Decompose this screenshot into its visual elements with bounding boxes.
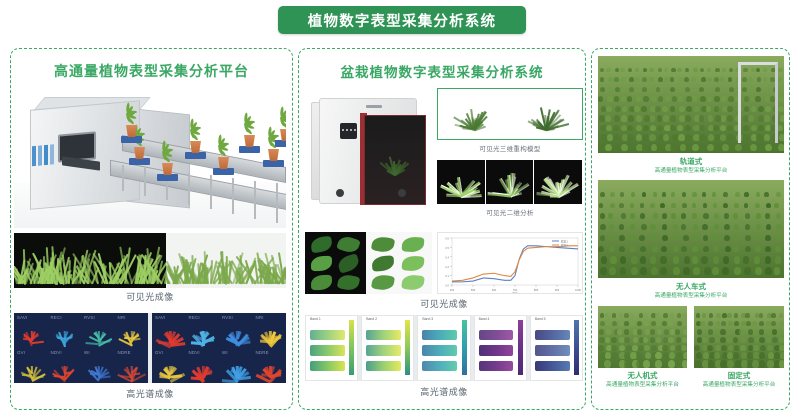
svg-text:0.1: 0.1 (445, 274, 449, 278)
variant-subtitle-fixed: 高通量植物表型采集分析平台 (692, 382, 786, 389)
hyper-index-label: GVI (155, 350, 163, 355)
hyperspectral-grid-b: SAVIRECIRVSINRIGVINDVIWINDRE (152, 313, 286, 383)
reflectance-spectrum-chart: 0.00.10.20.40.50.64005006007008009001000… (437, 232, 583, 294)
hyper-index-label: NDVI (51, 350, 62, 355)
leaf-visible-imaging-light (366, 232, 432, 294)
page-title-banner: 植物数字表型采集分析系统 (278, 6, 526, 34)
svg-text:0.5: 0.5 (445, 246, 449, 250)
strip-band-label: Band 2 (366, 317, 377, 321)
caption-visible-left: 可见光成像 (14, 290, 286, 303)
variant-subtitle-vehicle: 高通量植物表型采集分析平台 (598, 293, 784, 300)
variant-name-drone: 无人机式 (598, 371, 687, 381)
potted-plant-cabinet-photo (305, 88, 433, 220)
svg-text:500: 500 (471, 288, 476, 292)
hyper-index-label: NDVI (189, 350, 200, 355)
caption-hyper-mid: 高光谱成像 (305, 385, 583, 398)
visible-3d-model-photo (437, 88, 583, 140)
svg-text:900: 900 (555, 288, 560, 292)
visible-2d-analysis-photo (437, 160, 583, 204)
hyper-index-label: RECI (51, 315, 62, 320)
variant-name-vehicle: 无人车式 (598, 282, 784, 292)
hyper-index-label: RVSI (84, 315, 95, 320)
high-throughput-machine-photo (14, 93, 286, 228)
svg-text:样本2: 样本2 (561, 243, 568, 247)
strip-band-label: Band 1 (310, 317, 321, 321)
svg-text:0.0: 0.0 (445, 284, 449, 288)
panel-mid-title: 盆栽植物数字表型采集分析系统 (299, 61, 585, 81)
hyper-index-label: WI (84, 350, 90, 355)
svg-text:1000: 1000 (575, 288, 581, 292)
hyperspectral-strips-mid: Band 1 Band 2 Band 3 Band 4 Band 5 (305, 315, 583, 381)
svg-text:400: 400 (450, 288, 455, 292)
strip-band-label: Band 3 (422, 317, 433, 321)
strip-band-label: Band 5 (535, 317, 546, 321)
hyper-index-label: NDRE (256, 350, 269, 355)
caption-2d-analysis: 可见光二维分析 (437, 207, 583, 217)
hyperspectral-imaging-photo-left: SAVIRECIRVSINRIGVINDVIWINDRE SAVIRECIRVS… (14, 313, 286, 383)
hyper-index-label: SAVI (17, 315, 27, 320)
hyper-index-label: NRI (118, 315, 126, 320)
page-title: 植物数字表型采集分析系统 (308, 10, 496, 31)
spectrum-svg: 0.00.10.20.40.50.64005006007008009001000… (438, 233, 583, 294)
hyper-index-label: RVSI (222, 315, 233, 320)
variant-name-rail: 轨道式 (598, 157, 784, 167)
hyper-index-label: RECI (189, 315, 200, 320)
hyper-index-label: NDRE (118, 350, 131, 355)
panel-left-title: 高通量植物表型采集分析平台 (11, 61, 292, 81)
variant-photo-drone (598, 306, 687, 368)
visible-light-imaging-photo-left (14, 233, 286, 288)
variant-photo-vehicle (598, 180, 784, 278)
variant-photo-rail (598, 56, 784, 153)
svg-text:800: 800 (534, 288, 539, 292)
svg-text:0.4: 0.4 (445, 255, 449, 259)
variant-photo-fixed (694, 306, 784, 368)
hyper-index-label: SAVI (155, 315, 165, 320)
hyper-index-label: WI (222, 350, 228, 355)
caption-hyper-left: 高光谱成像 (14, 387, 286, 400)
svg-text:0.6: 0.6 (445, 237, 449, 241)
hyperspectral-grid-a: SAVIRECIRVSINRIGVINDVIWINDRE (14, 313, 148, 383)
svg-text:600: 600 (492, 288, 497, 292)
poster-root: 植物数字表型采集分析系统 高通量植物表型采集分析平台 可见光成像 SAVIREC… (0, 0, 800, 417)
svg-text:波长: 波长 (512, 290, 518, 294)
caption-3d-model: 可见光三维重构模型 (437, 143, 583, 153)
hyper-index-label: GVI (17, 350, 25, 355)
variant-name-fixed: 固定式 (694, 371, 784, 381)
hyper-index-label: NRI (256, 315, 264, 320)
variant-subtitle-drone: 高通量植物表型采集分析平台 (596, 382, 689, 389)
caption-visible-mid: 可见光成像 (305, 297, 583, 310)
svg-text:0.2: 0.2 (445, 265, 449, 269)
svg-text:样本1: 样本1 (561, 239, 568, 243)
variant-subtitle-rail: 高通量植物表型采集分析平台 (598, 168, 784, 175)
strip-band-label: Band 4 (479, 317, 490, 321)
